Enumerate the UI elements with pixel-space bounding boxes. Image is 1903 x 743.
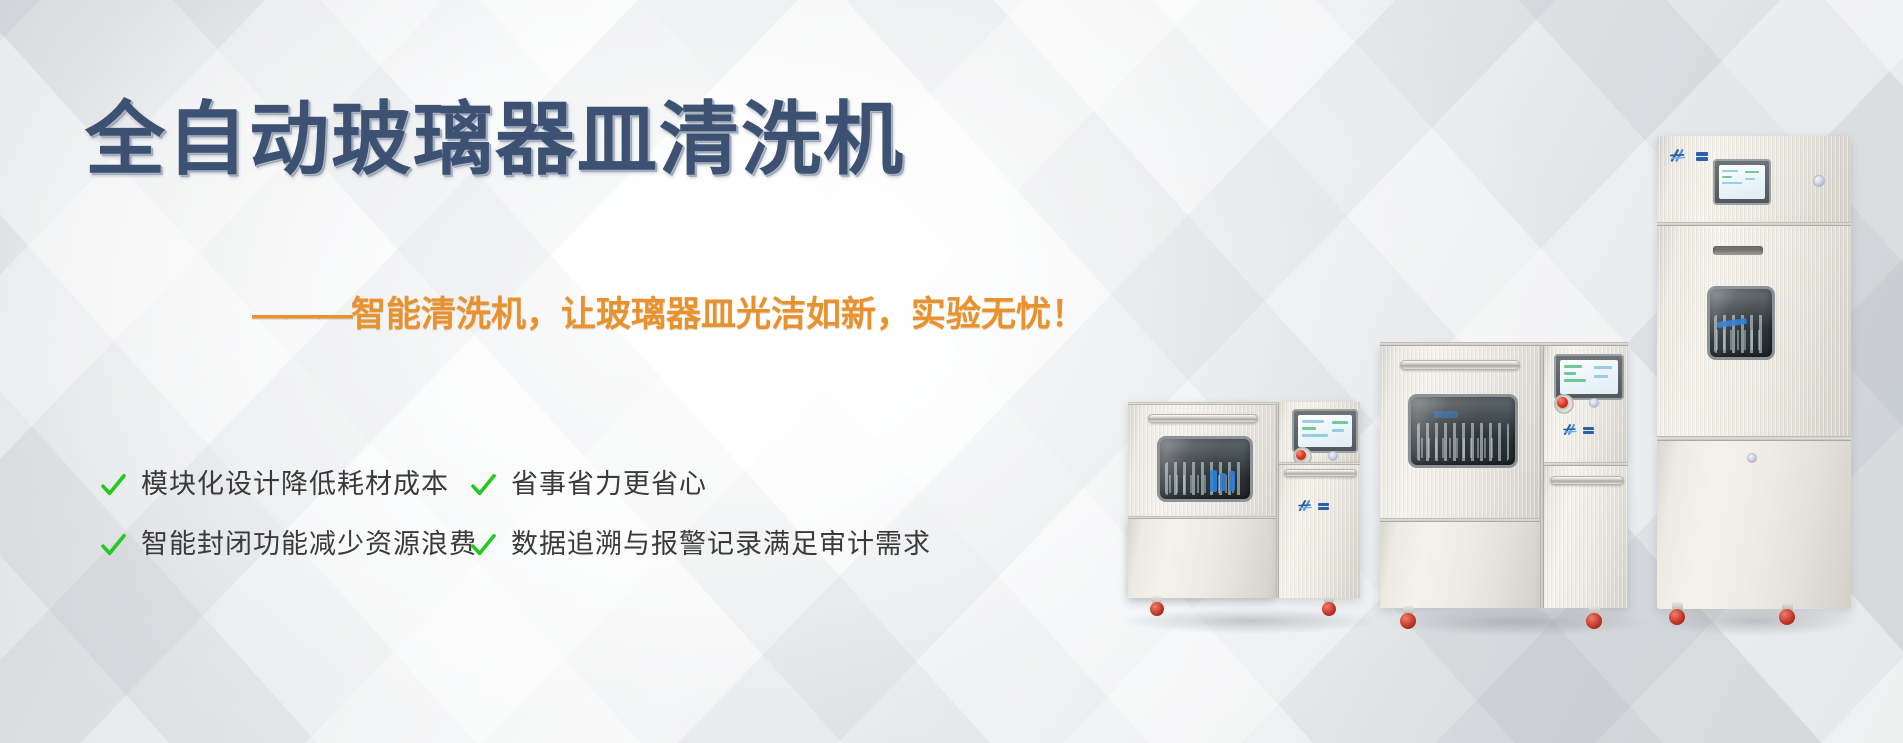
product-image-left[interactable] (1112, 392, 1384, 627)
check-icon (470, 472, 497, 499)
subtitle-dash: ——— (252, 295, 351, 334)
copy-block: 全自动玻璃器皿清洗机 ———智能清洗机，让玻璃器皿光洁如新，实验无忧！ 模块化设… (0, 0, 1100, 743)
feature-label: 省事省力更省心 (511, 468, 707, 500)
brand-logo-icon (1563, 423, 1594, 437)
feature-label: 智能封闭功能减少资源浪费 (141, 528, 477, 560)
product-image-right[interactable] (1651, 128, 1861, 633)
list-item: 数据追溯与报警记录满足审计需求 (470, 528, 990, 560)
list-item: 智能封闭功能减少资源浪费 (100, 528, 470, 560)
check-icon (470, 532, 497, 559)
page-title: 全自动玻璃器皿清洗机 (85, 100, 905, 180)
check-icon (100, 532, 127, 559)
subtitle-text: 智能清洗机，让玻璃器皿光洁如新，实验无忧！ (351, 295, 1086, 334)
brand-logo-icon (1298, 499, 1329, 513)
page-subtitle: ———智能清洗机，让玻璃器皿光洁如新，实验无忧！ (252, 292, 1086, 338)
feature-list: 模块化设计降低耗材成本 省事省力更省心 (100, 468, 1020, 589)
brand-logo-icon (1669, 148, 1708, 164)
product-image-center[interactable] (1380, 330, 1658, 630)
list-item: 省事省力更省心 (470, 468, 990, 500)
feature-row: 智能封闭功能减少资源浪费 数据追溯与报警记录满足审计需求 (100, 528, 1020, 560)
check-icon (100, 472, 127, 499)
feature-label: 模块化设计降低耗材成本 (141, 468, 449, 500)
promo-banner: 全自动玻璃器皿清洗机 ———智能清洗机，让玻璃器皿光洁如新，实验无忧！ 模块化设… (0, 0, 1903, 743)
feature-row: 模块化设计降低耗材成本 省事省力更省心 (100, 468, 1020, 500)
feature-label: 数据追溯与报警记录满足审计需求 (511, 528, 931, 560)
list-item: 模块化设计降低耗材成本 (100, 468, 470, 500)
